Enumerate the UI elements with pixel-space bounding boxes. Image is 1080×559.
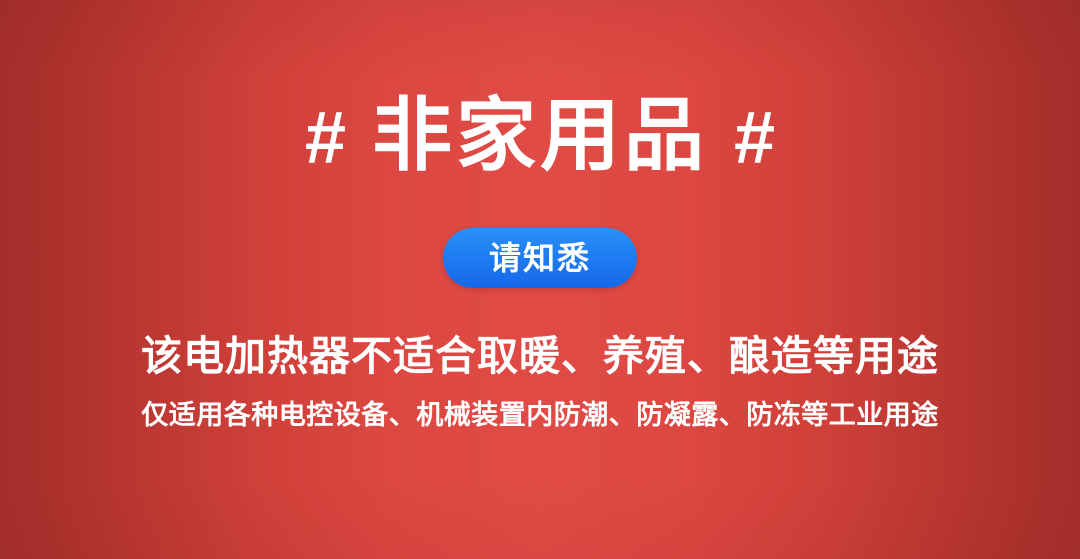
notice-badge: 请知悉 (443, 228, 637, 288)
headline-title: 非家用品 (372, 96, 708, 176)
hash-left-icon: # (305, 101, 346, 175)
notice-badge-label: 请知悉 (489, 242, 591, 274)
secondary-usage-text: 仅适用各种电控设备、机械装置内防潮、防凝露、防冻等工业用途 (141, 400, 939, 431)
promo-banner: # 非家用品 # 请知悉 该电加热器不适合取暖、养殖、酿造等用途 仅适用各种电控… (0, 0, 1080, 559)
hash-right-icon: # (734, 101, 775, 175)
headline: # 非家用品 # (305, 96, 775, 176)
primary-warning-text: 该电加热器不适合取暖、养殖、酿造等用途 (141, 334, 939, 380)
